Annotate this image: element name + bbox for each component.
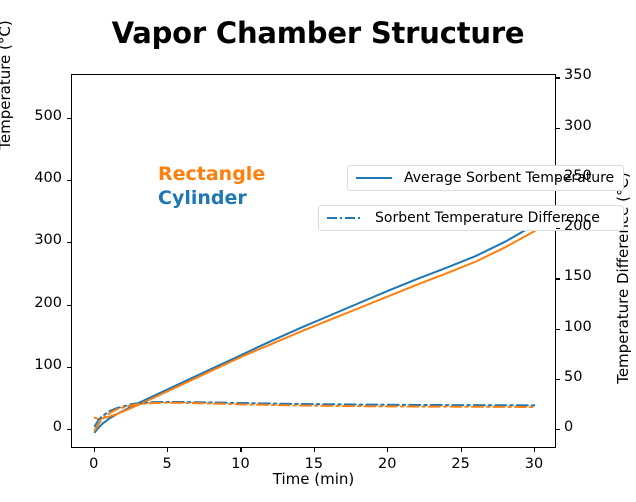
page-title: Vapor Chamber Structure — [0, 16, 636, 50]
y-tick-label-left: 300 — [18, 232, 62, 248]
y-tick-mark-right — [556, 128, 560, 129]
y-tick-mark-left — [67, 242, 71, 243]
y-tick-mark-right — [556, 329, 560, 330]
y-tick-label-right: 350 — [564, 67, 608, 83]
x-tick-mark — [314, 448, 315, 452]
plot-area — [72, 75, 555, 447]
series-line — [95, 225, 535, 433]
y-tick-mark-left — [67, 305, 71, 306]
y-tick-label-left: 0 — [18, 419, 62, 435]
y-tick-mark-right — [556, 278, 560, 279]
y-tick-mark-right — [556, 228, 560, 229]
plot-frame: Rectangle Cylinder Average Sorbent Tempe… — [71, 74, 556, 448]
x-tick-label: 0 — [72, 456, 116, 472]
x-tick-label: 20 — [365, 456, 409, 472]
figure: Vapor Chamber Structure Temperature (°C)… — [0, 0, 636, 502]
legend-line-sample-solid — [354, 171, 394, 185]
x-tick-mark — [461, 448, 462, 452]
y-tick-label-right: 200 — [564, 218, 608, 234]
y-tick-label-right: 50 — [564, 369, 608, 385]
y-tick-label-left: 500 — [18, 108, 62, 124]
y-tick-label-left: 400 — [18, 170, 62, 186]
x-tick-mark — [534, 448, 535, 452]
y-tick-label-right: 150 — [564, 268, 608, 284]
y-tick-mark-left — [67, 429, 71, 430]
x-tick-label: 15 — [292, 456, 336, 472]
x-tick-mark — [387, 448, 388, 452]
y-tick-mark-left — [67, 118, 71, 119]
y-tick-label-left: 200 — [18, 295, 62, 311]
annotation-cylinder: Cylinder — [158, 187, 247, 209]
y-tick-mark-right — [556, 429, 560, 430]
x-tick-mark — [240, 448, 241, 452]
y-tick-label-right: 300 — [564, 118, 608, 134]
x-tick-label: 30 — [512, 456, 556, 472]
legend-line-sample-dashdot — [325, 211, 365, 225]
x-tick-label: 5 — [145, 456, 189, 472]
y-tick-label-right: 250 — [564, 168, 608, 184]
x-tick-label: 10 — [218, 456, 262, 472]
y-tick-label-right: 100 — [564, 319, 608, 335]
y-axis-label-left: Temperature (°C) — [0, 0, 14, 175]
y-tick-mark-left — [67, 367, 71, 368]
x-axis-label: Time (min) — [71, 470, 556, 488]
annotation-rectangle: Rectangle — [158, 163, 265, 185]
y-tick-mark-left — [67, 180, 71, 181]
series-lines — [72, 75, 555, 447]
y-tick-mark-right — [556, 178, 560, 179]
x-tick-label: 25 — [439, 456, 483, 472]
y-tick-mark-right — [556, 77, 560, 78]
x-tick-mark — [94, 448, 95, 452]
y-tick-label-left: 100 — [18, 357, 62, 373]
y-tick-label-right: 0 — [564, 419, 608, 435]
y-tick-mark-right — [556, 379, 560, 380]
series-line — [95, 403, 535, 431]
x-tick-mark — [167, 448, 168, 452]
